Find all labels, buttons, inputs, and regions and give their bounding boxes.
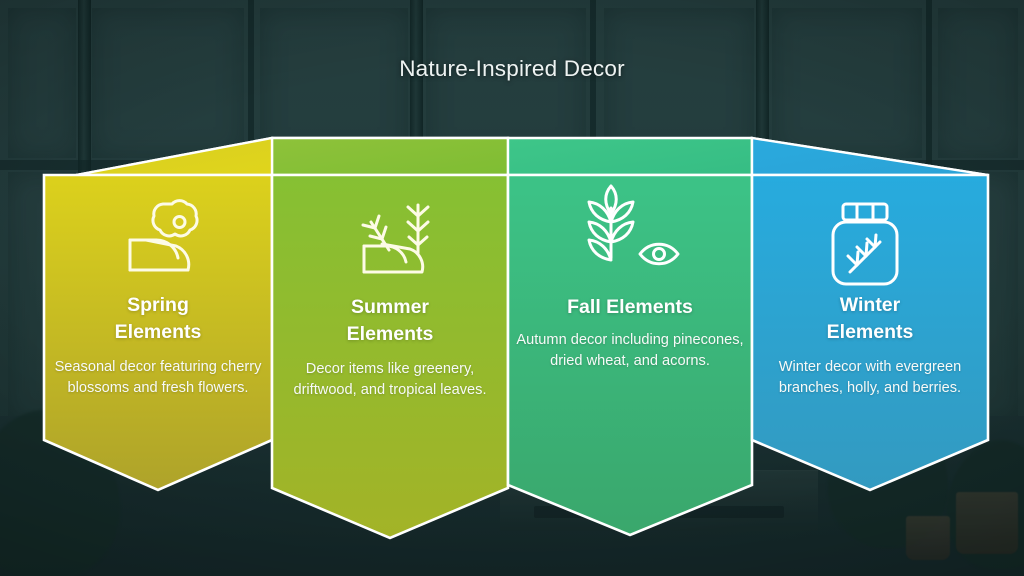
panel-heading-winter: Winter Elements bbox=[756, 292, 984, 346]
panel-top-bevel-left bbox=[76, 138, 272, 175]
panel-top-bevel-right bbox=[752, 138, 988, 175]
panel-text-winter: Winter Elements Winter decor with evergr… bbox=[756, 292, 984, 399]
panel-text-summer: Summer Elements Decor items like greener… bbox=[284, 294, 496, 401]
panel-heading-fall: Fall Elements bbox=[514, 294, 746, 321]
panel-heading-line: Elements bbox=[756, 319, 984, 346]
panel-description-winter: Winter decor with evergreen branches, ho… bbox=[756, 357, 984, 399]
panel-heading-summer: Summer Elements bbox=[284, 294, 496, 348]
chevron-banner bbox=[0, 0, 1024, 576]
panel-heading-line: Fall Elements bbox=[514, 294, 746, 321]
panel-heading-line: Elements bbox=[284, 321, 496, 348]
panel-top-face-summer bbox=[272, 138, 508, 175]
panel-description-fall: Autumn decor including pinecones, dried … bbox=[514, 330, 746, 372]
slide-canvas: Nature-Inspired Decor bbox=[0, 0, 1024, 576]
panel-description-spring: Seasonal decor featuring cherry blossoms… bbox=[48, 357, 268, 399]
panel-heading-line: Elements bbox=[48, 319, 268, 346]
panel-heading-line: Summer bbox=[284, 294, 496, 321]
panel-text-spring: Spring Elements Seasonal decor featuring… bbox=[48, 292, 268, 399]
panel-text-fall: Fall Elements Autumn decor including pin… bbox=[514, 294, 746, 372]
panel-heading-spring: Spring Elements bbox=[48, 292, 268, 346]
panel-heading-line: Winter bbox=[756, 292, 984, 319]
panel-description-summer: Decor items like greenery, driftwood, an… bbox=[284, 359, 496, 401]
panel-heading-line: Spring bbox=[48, 292, 268, 319]
panel-top-face-fall bbox=[508, 138, 752, 175]
